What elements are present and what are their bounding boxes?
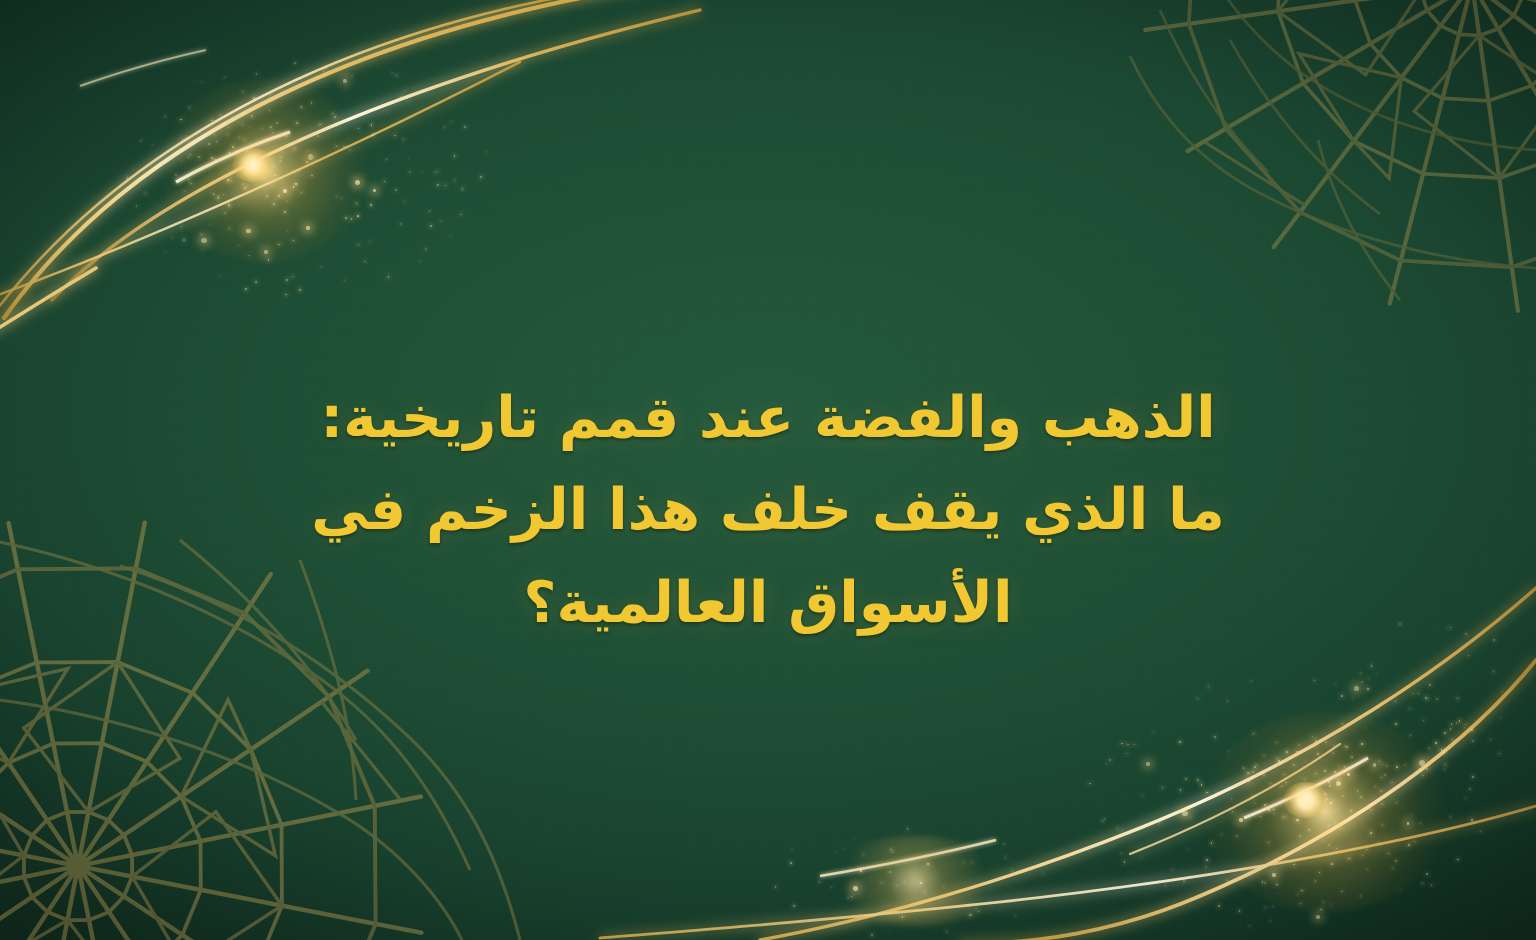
headline-line-2: ما الذي يقف خلف هذا الزخم في: [268, 464, 1268, 556]
headline-card: الذهب والفضة عند قمم تاريخية: ما الذي يق…: [0, 0, 1536, 940]
headline-container: الذهب والفضة عند قمم تاريخية: ما الذي يق…: [0, 372, 1536, 649]
headline-line-1: الذهب والفضة عند قمم تاريخية:: [268, 372, 1268, 464]
page-title: الذهب والفضة عند قمم تاريخية: ما الذي يق…: [268, 372, 1268, 649]
headline-line-3: الأسواق العالمية؟: [268, 557, 1268, 649]
